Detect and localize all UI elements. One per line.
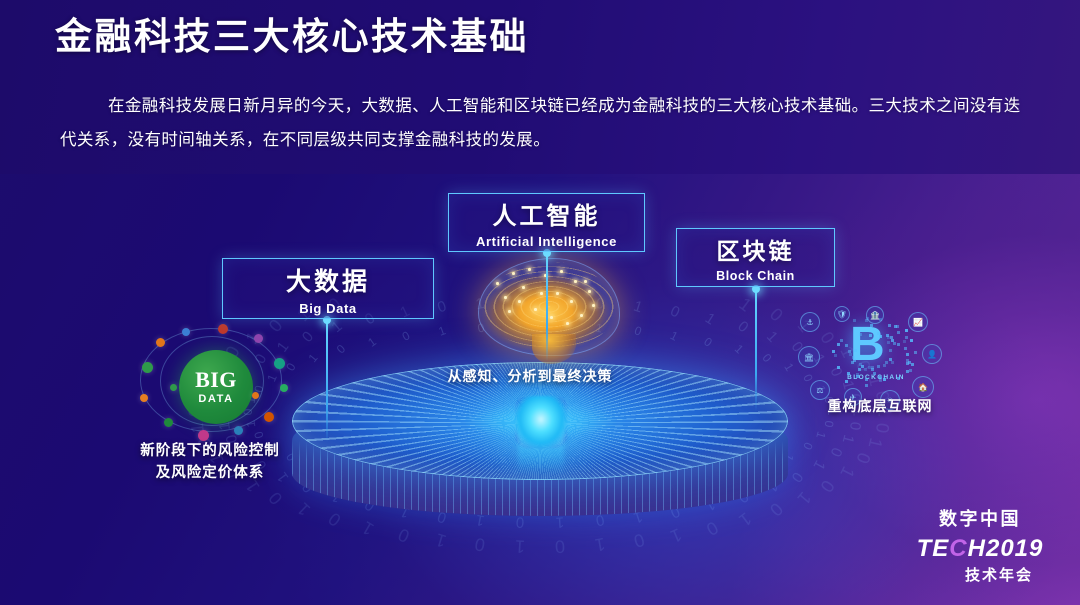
blockchain-pixel <box>853 359 856 362</box>
binary-digit: 0 <box>299 328 317 346</box>
bigdata-node-icon <box>140 394 148 402</box>
blockchain-pixel <box>911 363 914 366</box>
blockchain-node-icon: ⚓ <box>800 312 820 332</box>
blockchain-pixel <box>865 378 868 381</box>
blockchain-pixel <box>837 366 840 369</box>
bigdata-node-icon <box>182 328 190 336</box>
blockchain-pixel <box>853 319 856 322</box>
brain-stem <box>532 334 576 364</box>
blockchain-pixel <box>869 334 872 337</box>
logo-line-tech-2019: TECH2019 <box>900 535 1060 563</box>
brain-spark <box>566 322 569 325</box>
brain-spark <box>574 280 577 283</box>
blockchain-pixel <box>887 341 890 344</box>
binary-digit: 1 <box>702 310 718 329</box>
binary-digit: 1 <box>836 463 859 481</box>
card-big-data-title-en: Big Data <box>299 301 357 316</box>
caption-big-data-line1: 新阶段下的风险控制 <box>110 440 310 462</box>
binary-digit: 1 <box>365 334 379 349</box>
blockchain-pixel <box>879 335 882 338</box>
binary-digit: 0 <box>871 421 893 433</box>
blockchain-pixel <box>888 324 891 327</box>
logo-line-digital-china: 数字中国 <box>900 505 1060 531</box>
bigdata-node-icon <box>252 392 259 399</box>
brain-spark <box>518 300 521 303</box>
bigdata-node-icon <box>142 362 153 373</box>
brain-spark <box>592 304 595 307</box>
card-artificial-intelligence[interactable]: 人工智能 Artificial Intelligence <box>448 193 645 252</box>
brain-spark <box>580 314 583 317</box>
blockchain-pixel <box>878 375 881 378</box>
connector-ai <box>546 253 548 361</box>
blockchain-pixel <box>886 334 889 337</box>
logo-tech-pre: TE <box>917 535 950 562</box>
blockchain-pixel <box>879 379 882 382</box>
blockchain-pixel <box>889 349 892 352</box>
blockchain-pixel <box>905 336 908 339</box>
blockchain-pixel <box>832 350 835 353</box>
bigdata-node-icon <box>218 324 228 334</box>
bigdata-node-icon <box>170 384 177 391</box>
slide-root: 金融科技三大核心技术基础 在金融科技发展日新月异的今天，大数据、人工智能和区块链… <box>0 0 1080 605</box>
brain-spark <box>534 308 537 311</box>
blockchain-pixel <box>847 372 850 375</box>
blockchain-pixel <box>889 358 892 361</box>
brain-spark <box>528 268 531 271</box>
bigdata-badge-top-text: BIG <box>195 369 237 391</box>
blockchain-label: BLOCKCHAIN <box>836 374 916 381</box>
brain-spark <box>512 272 515 275</box>
blockchain-pixel <box>897 377 900 380</box>
logo-tech-c: C <box>949 535 967 562</box>
blockchain-pixel <box>845 380 848 383</box>
bigdata-node-icon <box>280 384 288 392</box>
blockchain-node-icon: 👤 <box>922 344 942 364</box>
blockchain-pixel <box>877 365 880 368</box>
binary-digit: 0 <box>632 323 643 338</box>
binary-digit: 0 <box>816 476 839 496</box>
caption-big-data: 新阶段下的风险控制 及风险定价体系 <box>110 440 310 485</box>
blockchain-pixel <box>890 336 893 339</box>
binary-digit: 1 <box>763 328 781 346</box>
blockchain-pixel <box>840 339 843 342</box>
brain-spark <box>504 296 507 299</box>
binary-digit: 0 <box>668 303 683 322</box>
brain-spark <box>570 300 573 303</box>
blockchain-pixel <box>903 340 906 343</box>
blockchain-pixel <box>858 368 861 371</box>
binary-digit: 1 <box>668 328 680 344</box>
caption-block-chain: 重构底层互联网 <box>800 396 960 416</box>
blockchain-pixel <box>910 339 913 342</box>
blockchain-pixel <box>883 378 886 381</box>
binary-digit: 0 <box>399 328 411 344</box>
binary-digit: 1 <box>329 318 346 336</box>
ai-brain-icon <box>474 252 624 364</box>
blockchain-pixel <box>909 369 912 372</box>
brain-spark <box>496 282 499 285</box>
blockchain-pixel <box>891 361 894 364</box>
blockchain-pixel <box>854 349 857 352</box>
binary-digit: 0 <box>702 334 716 349</box>
blockchain-pixel <box>856 375 859 378</box>
blockchain-pixel <box>897 331 900 334</box>
bigdata-node-icon <box>264 412 274 422</box>
blockchain-pixel <box>906 370 909 373</box>
bigdata-node-icon <box>164 418 173 427</box>
binary-digit: 0 <box>826 445 845 459</box>
binary-digit: 1 <box>632 298 645 317</box>
blockchain-pixel <box>914 351 917 354</box>
blockchain-pixel <box>845 344 848 347</box>
blockchain-pixel <box>883 364 886 367</box>
connector-block-chain <box>755 289 757 411</box>
bigdata-badge-bottom-text: DATA <box>198 394 233 405</box>
blockchain-pixel <box>877 332 880 335</box>
blockchain-node-icon: 🏠 <box>912 376 934 398</box>
card-block-chain-title-zh: 区块链 <box>717 232 795 266</box>
brain-spark <box>556 292 559 295</box>
brain-spark <box>550 316 553 319</box>
blockchain-pixel <box>852 356 855 359</box>
blockchain-pixel <box>871 366 874 369</box>
blockchain-pixel <box>896 325 899 328</box>
card-block-chain-title-en: Block Chain <box>716 269 795 283</box>
card-ai-title-en: Artificial Intelligence <box>476 234 617 249</box>
blockchain-node-icon: 🛡 <box>834 306 850 322</box>
binary-digit: 1 <box>809 457 828 473</box>
blockchain-pixel <box>837 343 840 346</box>
blockchain-pixel <box>865 384 868 387</box>
blockchain-pixel <box>873 372 876 375</box>
brain-spark <box>560 270 563 273</box>
binary-digit: 1 <box>814 430 829 440</box>
binary-digit: 1 <box>839 433 858 445</box>
bigdata-node-icon <box>274 358 285 369</box>
binary-digit: 1 <box>437 323 448 338</box>
bigdata-node-icon <box>234 426 243 435</box>
blockchain-pixel <box>904 347 907 350</box>
bigdata-node-icon <box>156 338 165 347</box>
blockchain-pixel <box>893 342 896 345</box>
blockchain-pixel <box>848 350 851 353</box>
blockchain-pixel <box>859 333 862 336</box>
blockchain-icon-cluster: B BLOCKCHAIN ⚓🏛⚖✈☀🏠👤📈🏦🛡 <box>796 306 946 406</box>
blockchain-pixel <box>905 329 908 332</box>
bigdata-node-icon <box>254 334 263 343</box>
blockchain-node-icon: 🏦 <box>866 306 884 324</box>
card-big-data-title-zh: 大数据 <box>286 262 370 298</box>
binary-digit: 0 <box>822 419 837 428</box>
card-big-data[interactable]: 大数据 Big Data <box>222 258 434 319</box>
brain-spark <box>588 290 591 293</box>
connector-big-data <box>326 320 328 442</box>
caption-ai: 从感知、分析到最终决策 <box>420 366 640 386</box>
binary-digit: 0 <box>847 421 865 431</box>
card-block-chain[interactable]: 区块链 Block Chain <box>676 228 835 287</box>
big-data-badge: BIG DATA <box>179 350 253 424</box>
blockchain-node-icon: 🏛 <box>798 346 820 368</box>
caption-big-data-line2: 及风险定价体系 <box>110 462 310 484</box>
event-logo: 数字中国 TECH2019 技术年会 <box>900 505 1060 597</box>
brain-spark <box>540 292 543 295</box>
blockchain-pixel <box>859 363 862 366</box>
blockchain-pixel <box>834 354 837 357</box>
blockchain-pixel <box>870 324 873 327</box>
platform-glow-core <box>515 396 567 448</box>
binary-digit: 0 <box>765 303 787 325</box>
binary-digit: 0 <box>852 450 875 467</box>
brain-spark <box>584 280 587 283</box>
blockchain-pixel <box>864 368 867 371</box>
binary-digit: 0 <box>435 298 448 317</box>
intro-paragraph: 在金融科技发展日新月异的今天，大数据、人工智能和区块链已经成为金融科技的三大核心… <box>60 90 1025 158</box>
page-title: 金融科技三大核心技术基础 <box>55 14 529 60</box>
brain-spark <box>508 310 511 313</box>
logo-line-annual-conference: 技术年会 <box>900 564 1060 585</box>
blockchain-pixel <box>897 343 900 346</box>
brain-spark <box>522 286 525 289</box>
blockchain-node-icon: 📈 <box>908 312 928 332</box>
big-data-icon-cluster: BIG DATA <box>134 322 292 440</box>
blockchain-pixel <box>885 361 888 364</box>
card-ai-title-zh: 人工智能 <box>493 196 601 231</box>
logo-tech-post: H2019 <box>968 535 1044 562</box>
binary-digit: 1 <box>863 436 886 451</box>
blockchain-pixel <box>906 353 909 356</box>
binary-digit: 1 <box>735 293 756 316</box>
binary-digit: 0 <box>734 318 751 336</box>
